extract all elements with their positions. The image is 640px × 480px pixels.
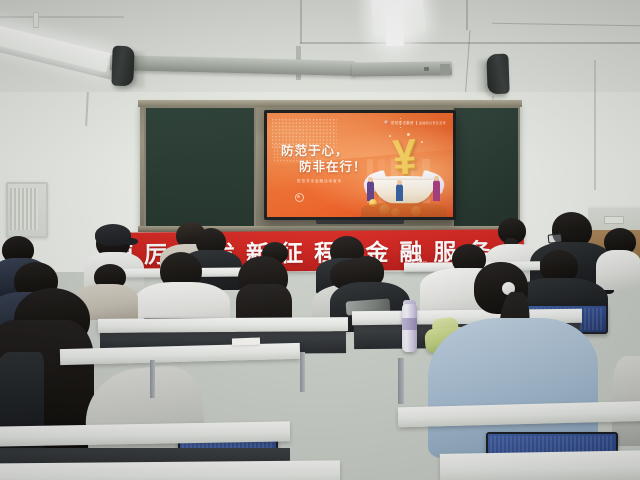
ceiling-seam (466, 0, 468, 30)
slide-illustration: ¥ (361, 133, 447, 217)
wall-speaker-icon (111, 46, 134, 87)
slide-brand-logo: 防范非法集资 金融知识普及宣传 (384, 120, 446, 125)
illustration-person (367, 181, 374, 201)
desk-leg (150, 360, 155, 398)
brand-mark-icon (384, 120, 389, 125)
student-body (596, 250, 640, 290)
ceiling-seam (0, 16, 124, 18)
rail-end-cap (440, 64, 450, 75)
sparkle-icon (389, 135, 391, 137)
illustration-person (433, 180, 440, 201)
ceiling-seam (300, 0, 302, 44)
illustration-person (396, 184, 403, 201)
desk (60, 343, 300, 365)
chalkboard-panel-right (452, 106, 520, 230)
slide-title-line1: 防范于心， (281, 144, 349, 158)
interactive-smart-display[interactable]: 防范非法集资 金融知识普及宣传 防范于心， 防非在行！ 防范非法金融活动宣传 ¥ (264, 110, 456, 220)
slide-title-line2: 防非在行！ (299, 160, 367, 176)
brand-subname: 金融知识普及宣传 (419, 120, 446, 125)
cap-brim (124, 238, 138, 245)
display-stand (316, 220, 404, 224)
desk-leg (300, 352, 305, 392)
chalkboard-panel-left (144, 106, 256, 230)
brand-divider (416, 121, 417, 125)
bottle-label (402, 318, 417, 330)
slide-title: 防范于心， 防非在行！ (281, 144, 367, 176)
wall-panel-seam (594, 60, 596, 190)
fluorescent-light-icon (386, 0, 404, 46)
desk-leg (398, 358, 404, 404)
ceiling (0, 0, 640, 96)
classroom-photo-scene: 防范非法集资 金融知识普及宣传 防范于心， 防非在行！ 防范非法金融活动宣传 ¥ (0, 0, 640, 480)
rail-marker (424, 67, 429, 71)
cabinet-handle (604, 216, 624, 224)
desk (440, 450, 640, 480)
ceiling-seam (300, 42, 640, 44)
air-conditioner-vent (6, 182, 48, 238)
projection-screen-rail (352, 61, 452, 76)
illustration-ground (361, 203, 447, 217)
slide-ring-decor (297, 195, 300, 198)
paper-sheet (232, 338, 260, 346)
presentation-slide: 防范非法集资 金融知识普及宣传 防范于心， 防非在行！ 防范非法金融活动宣传 ¥ (267, 113, 453, 217)
wall-speaker-icon (486, 54, 509, 95)
desk (0, 460, 340, 480)
vent-louvers (10, 188, 38, 230)
brand-name: 防范非法集资 (391, 120, 414, 125)
vent-control (33, 12, 39, 28)
slide-subtitle: 防范非法金融活动宣传 (297, 179, 342, 184)
